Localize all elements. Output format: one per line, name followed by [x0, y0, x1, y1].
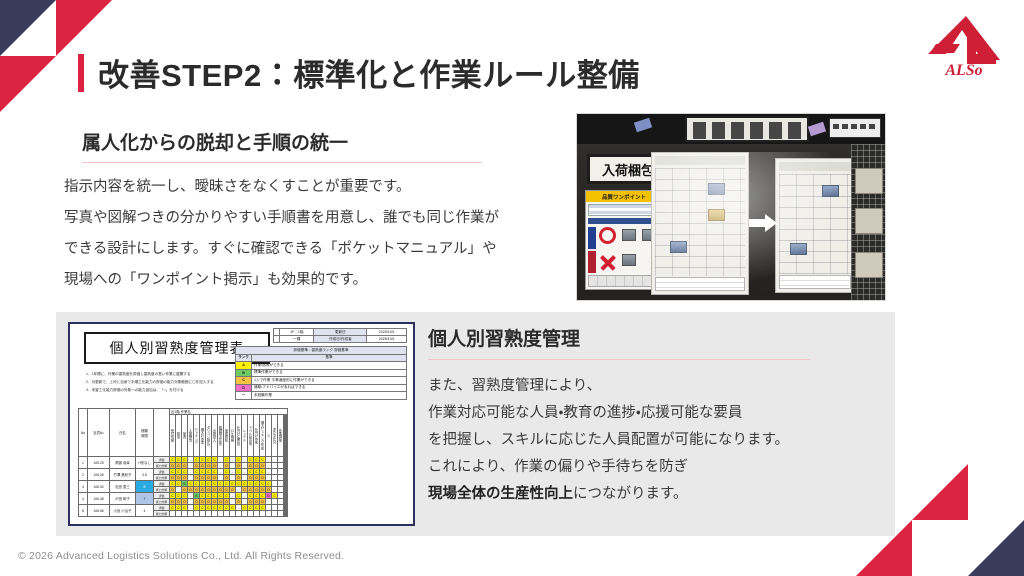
spreadsheet-meta-table: 1F：1階 更新日 2025/10/1 一課 作成日/作成者 2025/10/1	[273, 328, 407, 343]
left-paragraph-4: 現場への「ワンポイント掲示」も効果的です。	[64, 265, 564, 296]
row-code: 106.26	[88, 469, 110, 481]
meta-cell: 1F：1階	[280, 329, 314, 336]
photo-rack-box-3	[855, 252, 883, 278]
photo-rack-box-1	[855, 168, 883, 194]
spreadsheet-rank-legend: 評価基準→習熟度ランク 評価基準 ランク 基準 A作業/指導ができる B標準作業…	[235, 346, 407, 400]
arrow-right-icon	[749, 214, 777, 232]
photo-poster-thumb-1	[622, 229, 636, 241]
col-code: 社員№	[88, 409, 110, 457]
right-body-text: また、習熟度管理により、 作業対応可能な人員・教育の進捗・応援可能な要員 を把握…	[428, 373, 828, 508]
corner-decoration-bottom-right-red-upper	[912, 464, 968, 520]
table-row: 一課 作成日/作成者 2025/10/1	[274, 336, 407, 343]
row-name: 戸田 和子	[110, 493, 136, 505]
photo-manual-sheet-after	[775, 158, 855, 293]
row-name: 小島 小治子	[110, 505, 136, 517]
right-line-1: また、習熟度管理により、	[428, 373, 828, 400]
photo-manual-grid-1	[655, 168, 745, 276]
legend-desc: 標準作業ができる	[252, 369, 407, 377]
row-name: 桐部 貴幸	[110, 457, 136, 469]
row-label-capability: 能力分類	[154, 511, 170, 517]
meta-cell: 作成日/作成者	[314, 336, 367, 343]
table-row: ー未経験作業	[236, 392, 407, 400]
right-section-heading: 個人別習熟度管理	[428, 324, 828, 351]
meta-cell: 2025/10/1	[367, 336, 407, 343]
photo-manual-sheet-before	[651, 152, 749, 295]
also-logo-text: ALSo	[944, 62, 982, 78]
cross-ng-icon	[599, 253, 617, 271]
photo-manual-image-2	[708, 209, 725, 221]
right-line-5: 現場全体の生産性向上につながります。	[428, 481, 828, 508]
table-row: A作業/指導ができる	[236, 362, 407, 370]
photo-board-header-text	[693, 122, 801, 139]
skill-matrix-table: No社員№氏名経験時間出1階 作業名受付切替検品荷造入荷梱包ピッキング棚入れ作業…	[78, 408, 288, 517]
slide-root: 改善STEP2：標準化と作業ルール整備 ALSo 属人化からの脱却と手順の統一 …	[0, 0, 1024, 576]
row-hours: H形なし	[136, 457, 154, 469]
workplace-bulletin-board-photo: 入荷梱包 品質ワンポイント	[576, 113, 886, 301]
legend-rank: B	[236, 369, 252, 377]
table-row: C1人で作業·平準速度的に作業ができる	[236, 377, 407, 385]
row-hours: 3.5	[136, 469, 154, 481]
photo-manual-image-3	[670, 241, 687, 253]
legend-desc: 未経験作業	[252, 392, 407, 400]
photo-manual-footer-2	[779, 275, 851, 289]
right-line-5-tail: につながります。	[573, 486, 688, 502]
photo-manual-image-4	[822, 185, 839, 197]
capability-cell-spacer	[287, 511, 288, 517]
row-hours: 4	[136, 505, 154, 517]
meta-cell: 一課	[280, 336, 314, 343]
right-line-2: 作業対応可能な人員・教育の進捗・応援可能な要員	[428, 400, 828, 427]
circle-ok-icon	[599, 227, 616, 244]
photo-poster-sidebar-bad	[588, 251, 596, 273]
legend-header-desc: 基準	[252, 354, 407, 362]
left-section-header: 属人化からの脱却と手順の統一	[82, 128, 482, 163]
table-row: 1F：1階 更新日 2025/10/1	[274, 329, 407, 336]
photo-manual-title-1	[655, 156, 745, 165]
row-hours: 8	[136, 481, 154, 493]
corner-decoration-bottom-right-navy	[968, 520, 1024, 576]
legend-rank: A	[236, 362, 252, 370]
skill-matrix-spreadsheet: 個人別習熟度管理表 1．1年間に、作業の習熟度を評価し習熟度の高い作業に展開する…	[68, 322, 415, 526]
meta-cell: 更新日	[314, 329, 367, 336]
photo-right-sign	[829, 118, 881, 138]
left-section-heading: 属人化からの脱却と手順の統一	[82, 128, 482, 155]
row-name: 竹澤 美紀子	[110, 469, 136, 481]
meta-cell: 2025/10/1	[367, 329, 407, 336]
right-line-4: これにより、作業の偏りや手待ちを防ぎ	[428, 454, 828, 481]
photo-rack-box-2	[855, 208, 883, 234]
footer-copyright: © 2026 Advanced Logistics Solutions Co.,…	[18, 550, 344, 562]
right-section: 個人別習熟度管理 また、習熟度管理により、 作業対応可能な人員・教育の進捗・応援…	[428, 324, 828, 508]
photo-poster-sidebar-good	[588, 227, 596, 249]
col-name: 氏名	[110, 409, 136, 457]
row-no: 4	[79, 493, 88, 505]
corner-decoration-top-left-red-lower	[0, 56, 56, 112]
row-code: 106.25	[88, 457, 110, 469]
page-title: 改善STEP2：標準化と作業ルール整備	[98, 50, 640, 95]
photo-poster-footer	[588, 275, 660, 287]
table-row: ランク 基準	[236, 354, 407, 362]
right-line-3: を把握し、スキルに応じた人員配置が可能になります。	[428, 427, 828, 454]
right-section-divider	[428, 359, 810, 360]
legend-desc: 作業/指導ができる	[252, 362, 407, 370]
corner-decoration-top-left-navy	[0, 0, 56, 56]
row-code: 106.30	[88, 481, 110, 493]
photo-manual-grid-2	[779, 174, 851, 274]
legend-rank: D	[236, 384, 252, 392]
also-logo: ALSo	[926, 14, 1002, 78]
photo-manual-footer-1	[655, 277, 745, 291]
photo-poster-band	[588, 218, 660, 224]
legend-desc: 1人で作業·平準速度的に作業ができる	[252, 377, 407, 385]
left-paragraph-2: 写真や図解つきの分かりやすい手順書を用意し、誰でも同じ作業が	[64, 203, 564, 234]
title-accent-bar	[78, 54, 84, 92]
row-code: 106.56	[88, 505, 110, 517]
left-body-text: 指示内容を統一し、曖昧さをなくすことが重要です。 写真や図解つきの分かりやすい手…	[64, 172, 564, 296]
right-line-5-emphasis: 現場全体の生産性向上	[428, 486, 573, 502]
photo-manual-image-5	[790, 243, 807, 255]
legend-rank: ー	[236, 392, 252, 400]
row-no: 2	[79, 469, 88, 481]
left-section-divider	[82, 162, 482, 163]
photo-poster-thumb-3	[622, 254, 636, 266]
table-row: B標準作業ができる	[236, 369, 407, 377]
table-row: D補助・アドバイスがあればできる	[236, 384, 407, 392]
row-no: 1	[79, 457, 88, 469]
slide-title-row: 改善STEP2：標準化と作業ルール整備	[78, 50, 640, 95]
photo-manual-title-2	[779, 162, 851, 171]
left-paragraph-1: 指示内容を統一し、曖昧さをなくすことが重要です。	[64, 172, 564, 203]
corner-decoration-top-left-red-upper	[56, 0, 112, 56]
photo-wire-rack	[851, 144, 885, 300]
photo-poster-table	[588, 204, 660, 216]
table-row: 評価基準→習熟度ランク 評価基準	[236, 347, 407, 355]
row-name: 松田 恵三	[110, 481, 136, 493]
left-paragraph-3: できる設計にします。すぐに確認できる「ポケットマニュアル」や	[64, 234, 564, 265]
row-no: 5	[79, 505, 88, 517]
photo-manual-image-1	[708, 183, 725, 195]
col-hours: 経験時間	[136, 409, 154, 457]
col-no: No	[79, 409, 88, 457]
legend-header-rank: ランク	[236, 354, 252, 362]
task-column-spacer	[287, 415, 288, 457]
row-hours: 7	[136, 493, 154, 505]
legend-desc: 補助・アドバイスがあればできる	[252, 384, 407, 392]
row-code: 106.38	[88, 493, 110, 505]
photo-board-header-sign	[685, 116, 809, 142]
legend-caption: 評価基準→習熟度ランク 評価基準	[236, 347, 407, 355]
legend-rank: C	[236, 377, 252, 385]
row-no: 3	[79, 481, 88, 493]
